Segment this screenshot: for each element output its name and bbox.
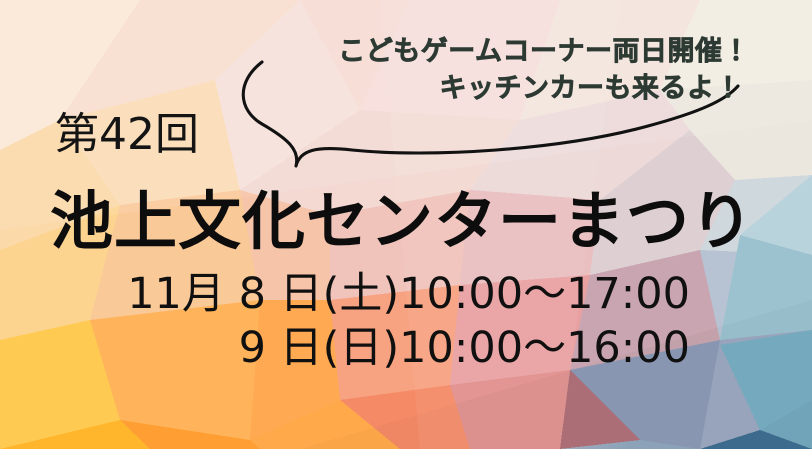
schedule-block: 11月 8 日(土)10:00〜17:00 9 日(日)10:00〜16:00 [120,268,690,376]
schedule-line-2: 9 日(日)10:00〜16:00 [120,322,690,376]
callout-text: こどもゲームコーナー両日開催！ キッチンカーも来るよ！ [255,33,750,108]
page-title: 池上文化センターまつり [50,187,750,256]
banner-text-layer: こどもゲームコーナー両日開催！ キッチンカーも来るよ！ 第42回 池上文化センタ… [0,0,812,449]
callout-line-2: キッチンカーも来るよ！ [255,70,750,107]
schedule-line-1: 11月 8 日(土)10:00〜17:00 [120,268,690,322]
callout-line-1: こどもゲームコーナー両日開催！ [255,33,750,70]
event-banner: こどもゲームコーナー両日開催！ キッチンカーも来るよ！ 第42回 池上文化センタ… [0,0,812,449]
edition-label: 第42回 [55,113,199,157]
